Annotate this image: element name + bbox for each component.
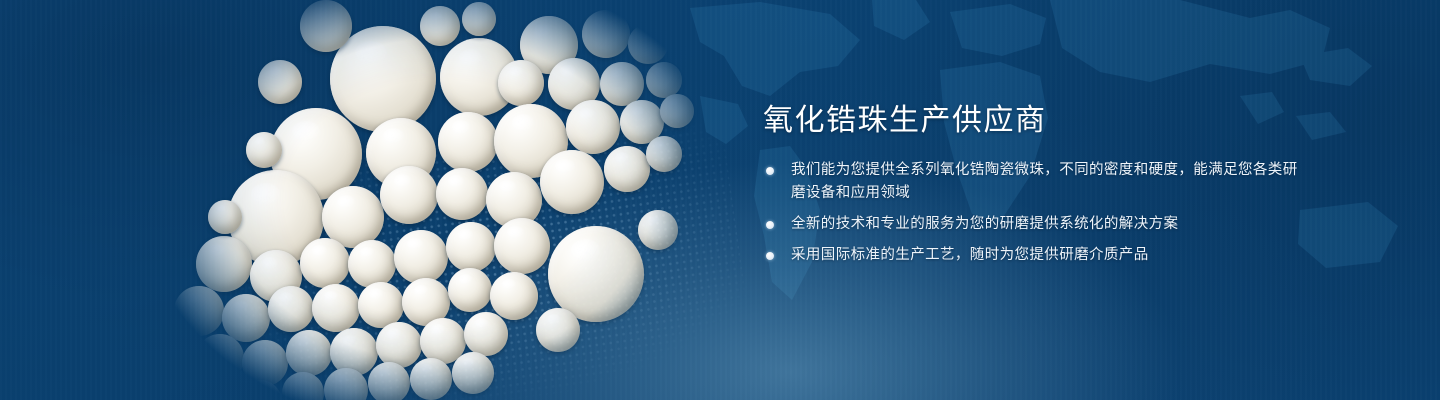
bullet-dot-icon: [766, 252, 774, 260]
list-item-label: 全新的技术和专业的服务为您的研磨提供系统化的解决方案: [791, 216, 1178, 232]
page-title: 氧化锆珠生产供应商: [763, 104, 1303, 137]
list-item: 全新的技术和专业的服务为您的研磨提供系统化的解决方案: [763, 213, 1303, 236]
banner-copy: 氧化锆珠生产供应商 我们能为您提供全系列氧化锆陶瓷微珠，不同的密度和硬度，能满足…: [763, 104, 1303, 267]
feature-list: 我们能为您提供全系列氧化锆陶瓷微珠，不同的密度和硬度，能满足您各类研磨设备和应用…: [763, 159, 1303, 267]
bullet-dot-icon: [766, 167, 774, 175]
bullet-dot-icon: [766, 221, 774, 229]
list-item-label: 采用国际标准的生产工艺，随时为您提供研磨介质产品: [791, 247, 1149, 263]
list-item: 采用国际标准的生产工艺，随时为您提供研磨介质产品: [763, 244, 1303, 267]
list-item: 我们能为您提供全系列氧化锆陶瓷微珠，不同的密度和硬度，能满足您各类研磨设备和应用…: [763, 159, 1303, 205]
hero-banner: 氧化锆珠生产供应商 我们能为您提供全系列氧化锆陶瓷微珠，不同的密度和硬度，能满足…: [0, 0, 1440, 400]
list-item-label: 我们能为您提供全系列氧化锆陶瓷微珠，不同的密度和硬度，能满足您各类研磨设备和应用…: [791, 162, 1298, 201]
